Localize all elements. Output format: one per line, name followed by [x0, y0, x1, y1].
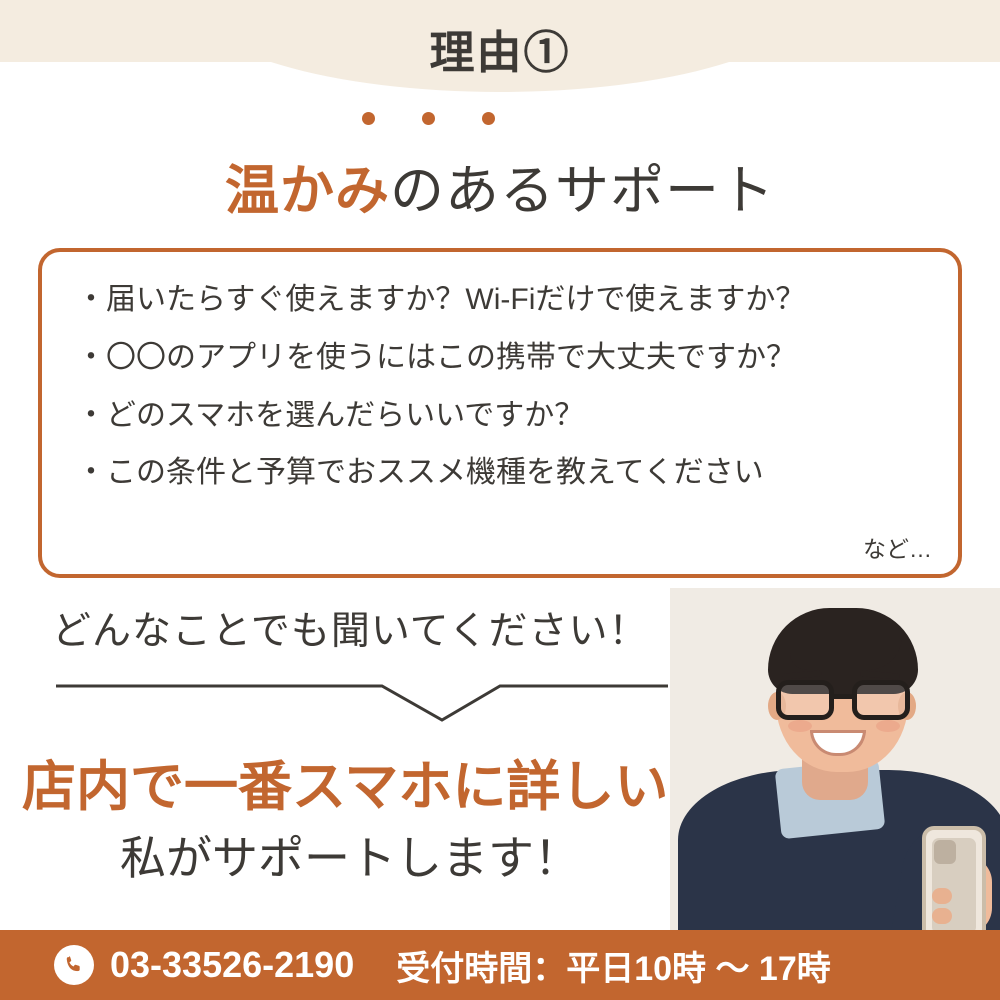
glasses-icon — [774, 680, 914, 722]
page-title: 温かみのあるサポート — [0, 146, 1000, 225]
ask-anything-text: どんなことでも聞いてください！ — [52, 600, 649, 656]
phone-number[interactable]: 03-33526-2190 — [110, 944, 354, 986]
cheek-right-shape — [876, 720, 900, 732]
question-box: ・届いたらすぐ使えますか？Wi-Fiだけで使えますか？ ・〇〇のアプリを使うには… — [38, 248, 962, 578]
contact-bar: 03-33526-2190 受付時間：平日10時 〜 17時 — [0, 930, 1000, 1000]
finger-shape — [932, 888, 952, 904]
emphasis-dots — [350, 112, 650, 138]
list-item: ・どのスマホを選んだらいいですか？ — [76, 394, 924, 438]
poster-root: 理由① 温かみのあるサポート ・届いたらすぐ使えますか？Wi-Fiだけで使えます… — [0, 0, 1000, 1000]
lens-left-shape — [776, 680, 834, 720]
reason-label: 理由① — [0, 16, 1000, 81]
business-hours: 受付時間：平日10時 〜 17時 — [396, 941, 831, 990]
page-title-highlight: 温かみ — [225, 161, 390, 221]
speech-notch-underline — [52, 680, 672, 726]
question-box-note: など… — [863, 530, 932, 564]
phone-icon — [54, 945, 94, 985]
dot-icon — [482, 112, 495, 125]
heading-section: 温かみのあるサポート — [0, 112, 1000, 225]
lens-right-shape — [852, 680, 910, 720]
headline-emphasis: 店内で一番スマホに詳しい — [22, 742, 668, 821]
glasses-bridge-shape — [832, 694, 854, 699]
list-item: ・〇〇のアプリを使うにはこの携帯で大丈夫ですか？ — [76, 336, 924, 380]
dot-icon — [422, 112, 435, 125]
page-title-rest: のあるサポート — [390, 161, 775, 221]
list-item: ・届いたらすぐ使えますか？Wi-Fiだけで使えますか？ — [76, 278, 924, 322]
hair-fringe-shape — [790, 636, 902, 670]
list-item: ・この条件と予算でおススメ機種を教えてください — [76, 451, 924, 495]
dot-icon — [362, 112, 375, 125]
staff-photo — [670, 588, 1000, 930]
phone-camera-shape — [934, 840, 956, 864]
headline-subline: 私がサポートします！ — [120, 822, 580, 888]
cheek-left-shape — [788, 720, 812, 732]
finger-shape — [932, 908, 952, 924]
